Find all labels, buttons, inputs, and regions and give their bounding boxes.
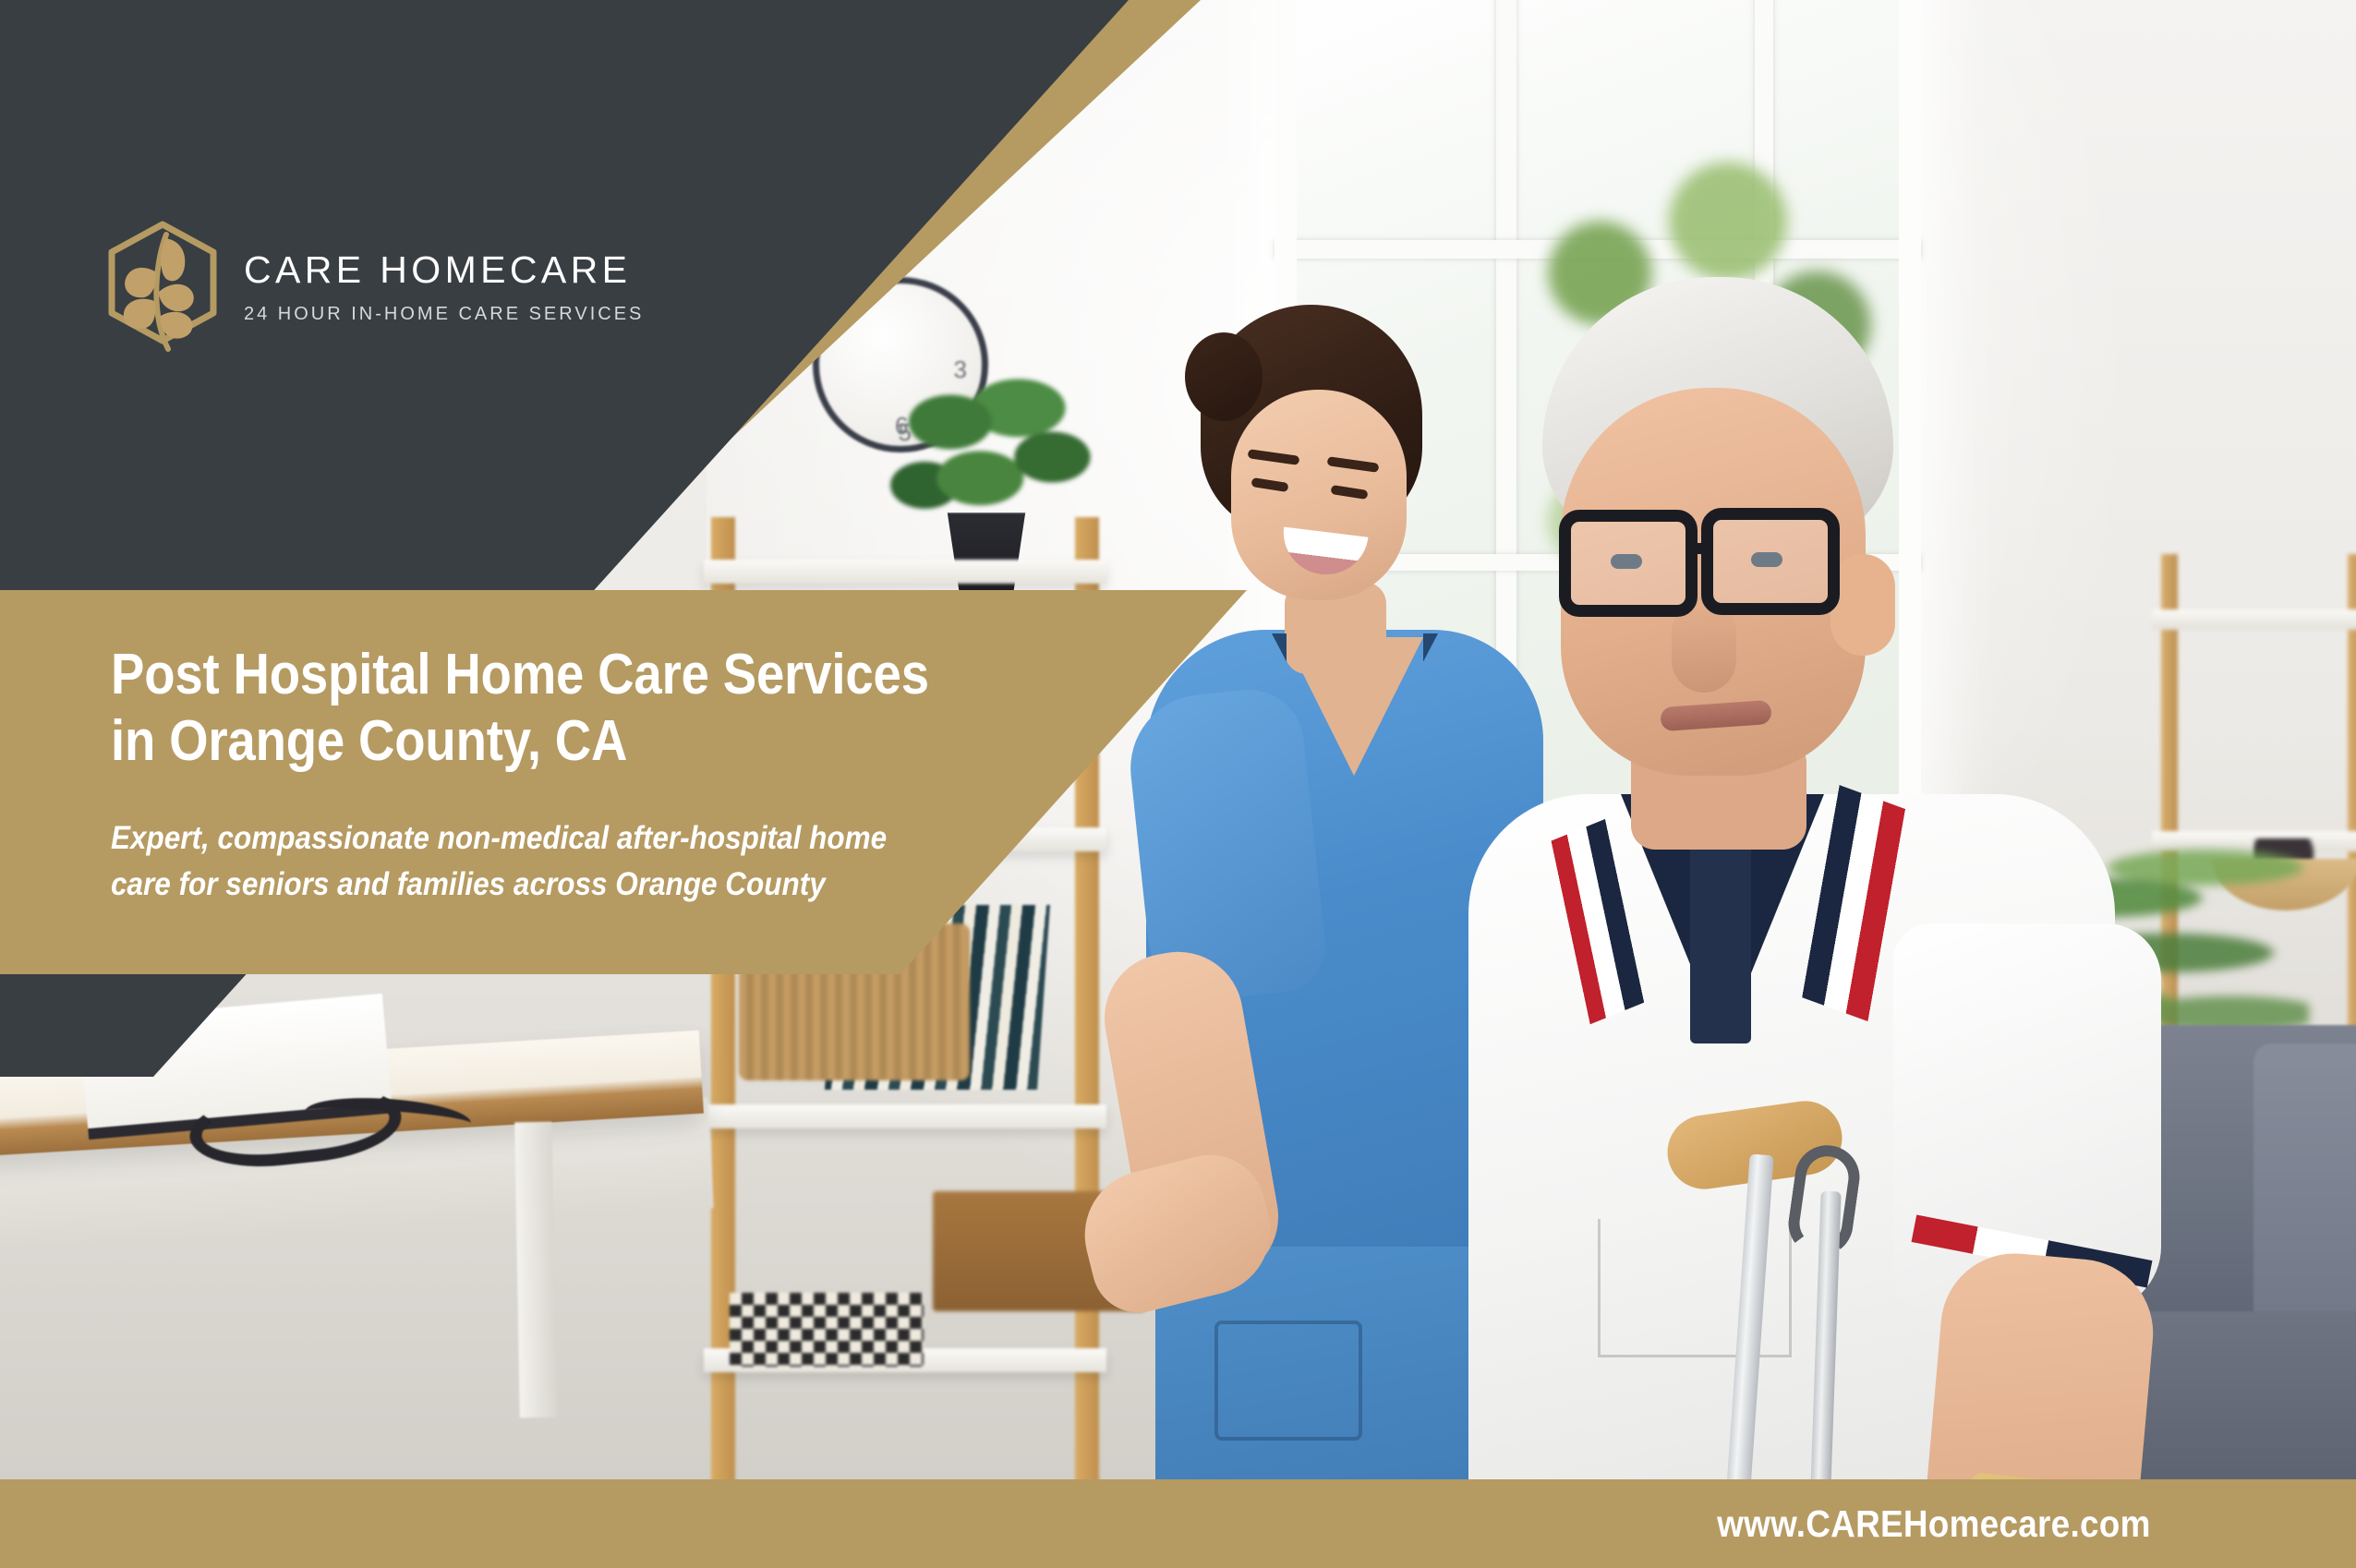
eyeglasses-lens-right	[1701, 508, 1840, 615]
desk-leg	[514, 1122, 557, 1418]
logo-wordmark: CARE HOMECARE 24 HOUR IN-HOME CARE SERVI…	[244, 251, 644, 323]
shirt-placket	[1690, 831, 1751, 1043]
marketing-banner: 3 4 5 6	[0, 0, 2356, 1568]
shelf-board	[704, 560, 1106, 584]
nurse-hair-bun	[1185, 332, 1263, 421]
nurse-pocket	[1214, 1321, 1362, 1441]
shelf-board	[704, 1104, 1106, 1128]
senior-ear	[1830, 554, 1895, 656]
eyeglasses-lens-left	[1559, 510, 1698, 617]
brand-logo[interactable]: CARE HOMECARE 24 HOUR IN-HOME CARE SERVI…	[102, 220, 644, 355]
hexagon-leaf-branch-icon	[102, 220, 224, 355]
footer-bar: www.CAREHomecare.com	[0, 1479, 2356, 1568]
page-title: Post Hospital Home Care Services in Oran…	[111, 642, 1021, 775]
website-url[interactable]: www.CAREHomecare.com	[1717, 1502, 2151, 1546]
page-subtitle: Expert, compassionate non-medical after-…	[111, 815, 909, 907]
chessboard	[730, 1293, 924, 1367]
sofa-cushion	[2253, 1043, 2356, 1348]
eyeglasses-bridge	[1690, 543, 1712, 554]
hero-text-block: Post Hospital Home Care Services in Oran…	[111, 642, 1145, 907]
brand-name: CARE HOMECARE	[244, 251, 644, 289]
brand-tagline: 24 HOUR IN-HOME CARE SERVICES	[244, 305, 644, 323]
